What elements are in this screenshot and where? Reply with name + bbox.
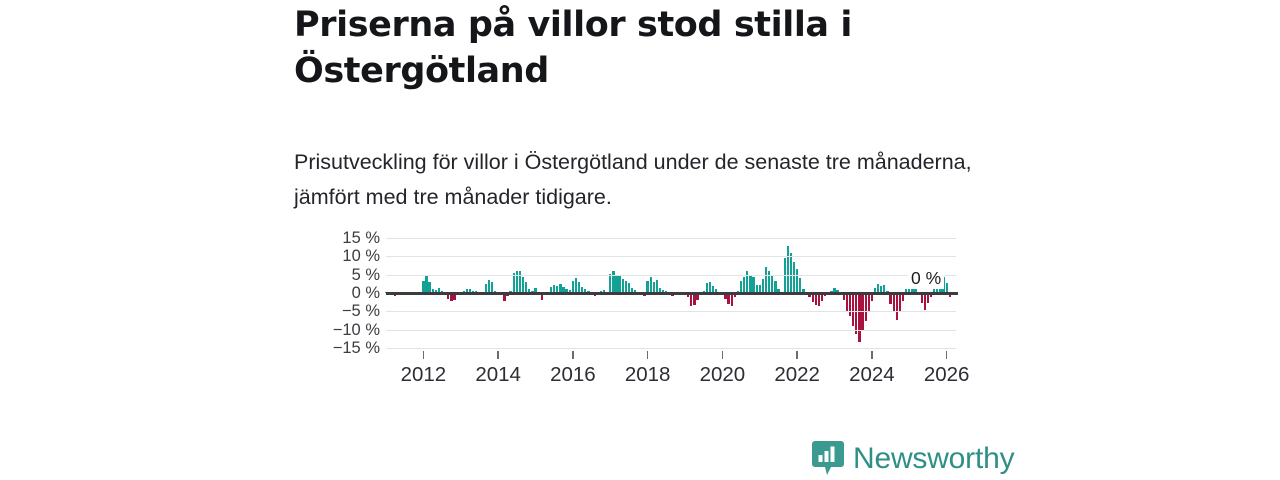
x-axis-tick-label: 2018 [625, 363, 671, 387]
x-axis-tick [722, 351, 724, 359]
x-axis-tick [871, 351, 873, 359]
x-axis-line [386, 348, 956, 349]
chart-bar [425, 276, 427, 293]
chart-bar [852, 293, 854, 326]
chart-bar [749, 275, 751, 293]
chart-bar [924, 293, 926, 310]
chart-bar [818, 293, 820, 306]
newsworthy-logo[interactable]: Newsworthy [812, 440, 1014, 478]
chart-bar [899, 293, 901, 311]
chart-bar [693, 293, 695, 305]
page-subtitle: Prisutveckling för villor i Östergötland… [294, 145, 974, 215]
gridline [386, 311, 956, 312]
chart-bar [858, 293, 860, 342]
y-axis-tick-label: 5 % [294, 267, 380, 283]
x-axis-tick-label: 2026 [924, 363, 970, 387]
x-axis-tick [423, 351, 425, 359]
chart-bar [868, 293, 870, 311]
chart-bar [846, 293, 848, 311]
chart-bar [889, 293, 891, 304]
gridline [386, 238, 956, 239]
plot-area [386, 238, 956, 348]
x-axis: 20122014201620182020202220242026 [386, 348, 956, 396]
chart-bar [650, 277, 652, 293]
y-axis-tick-label: −5 % [294, 303, 380, 319]
gridline [386, 256, 956, 257]
chart-bar [615, 276, 617, 293]
chart-bar [796, 269, 798, 293]
x-axis-tick [497, 351, 499, 359]
x-axis-tick [946, 351, 948, 359]
chart-bar [727, 293, 729, 304]
chart-bar [575, 278, 577, 293]
chart-bar [793, 262, 795, 293]
x-axis-tick-label: 2022 [774, 363, 820, 387]
y-axis-tick-label: 0 % [294, 285, 380, 301]
y-axis-tick-label: −15 % [294, 340, 380, 356]
bar-chart-bubble-icon [812, 440, 844, 478]
chart-bar [893, 293, 895, 312]
chart-bar [896, 293, 898, 320]
y-axis-tick-label: −10 % [294, 322, 380, 338]
chart-bar [799, 278, 801, 293]
x-axis-tick-label: 2024 [849, 363, 895, 387]
chart-bar [765, 267, 767, 293]
zero-line [386, 292, 958, 295]
chart-bar [849, 293, 851, 316]
chart-bar [921, 293, 923, 303]
chart-bar [690, 293, 692, 306]
x-axis-tick-label: 2012 [401, 363, 447, 387]
chart-bar [787, 246, 789, 293]
zero-annotation: 0 % [908, 268, 944, 289]
y-axis-tick-label: 10 % [294, 248, 380, 264]
x-axis-tick-label: 2020 [700, 363, 746, 387]
chart-bar [790, 253, 792, 293]
y-axis-tick-label: 15 % [294, 230, 380, 246]
page-title: Priserna på villor stod stilla i Östergö… [294, 2, 914, 94]
newsworthy-chart-card: Priserna på villor stod stilla i Östergö… [0, 0, 1280, 480]
chart-bar [815, 293, 817, 305]
x-axis-tick-label: 2016 [550, 363, 596, 387]
chart-bar [743, 277, 745, 293]
chart-bar [752, 277, 754, 293]
chart-bar [609, 274, 611, 293]
x-axis-tick [796, 351, 798, 359]
y-axis-labels: 15 %10 %5 %0 %−5 %−10 %−15 % [294, 238, 380, 348]
x-axis-tick-label: 2014 [475, 363, 521, 387]
chart-bar [865, 293, 867, 321]
chart-bar [622, 279, 624, 293]
chart-bar [488, 280, 490, 293]
x-axis-tick [572, 351, 574, 359]
chart-bar [522, 277, 524, 293]
logo-wordmark: Newsworthy [853, 444, 1014, 474]
gridline [386, 330, 956, 331]
chart-bar [656, 280, 658, 293]
chart-bar [513, 273, 515, 293]
chart: 15 %10 %5 %0 %−5 %−10 %−15 % 0 % 2012201… [294, 238, 994, 398]
chart-bar [855, 293, 857, 334]
chart-bar [731, 293, 733, 306]
gridline [386, 275, 956, 276]
chart-bar [762, 279, 764, 293]
x-axis-tick [647, 351, 649, 359]
chart-bar [618, 275, 620, 293]
chart-bar [771, 276, 773, 293]
